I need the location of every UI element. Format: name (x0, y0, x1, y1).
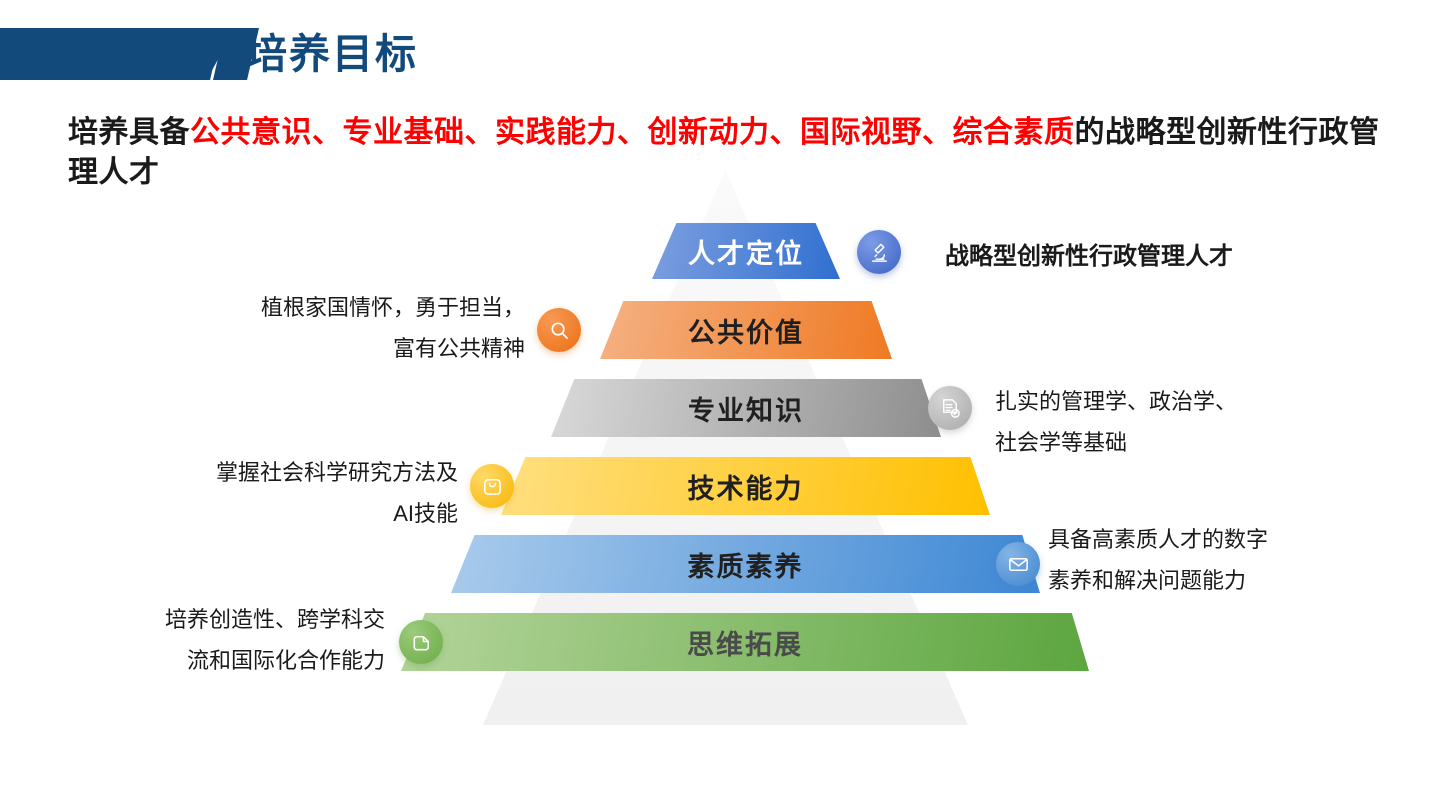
caption-public-value: 植根家国情怀，勇于担当， 富有公共精神 (150, 288, 525, 369)
pyramid-layer-label: 公共价值 (688, 311, 804, 350)
caption-line: 培养创造性、跨学科交 (60, 600, 385, 641)
caption-professional-knowledge: 扎实的管理学、政治学、 社会学等基础 (995, 382, 1395, 463)
caption-line: 植根家国情怀，勇于担当， (150, 288, 525, 329)
envelope-icon[interactable] (996, 542, 1040, 586)
pyramid-layer-label: 技术能力 (688, 467, 804, 506)
pyramid-layer-label: 专业知识 (688, 389, 804, 428)
document-check-icon[interactable] (928, 386, 972, 430)
caption-line: 流和国际化合作能力 (60, 641, 385, 682)
pyramid-layer-label: 人才定位 (688, 232, 804, 271)
pyramid-layer-professional-knowledge[interactable]: 专业知识 (551, 379, 941, 437)
slide-root: 培养目标 培养具备公共意识、专业基础、实践能力、创新动力、国际视野、综合素质的战… (0, 0, 1451, 806)
pyramid-layer-quality-literacy[interactable]: 素质素养 (451, 535, 1040, 593)
caption-line: 扎实的管理学、政治学、 (995, 382, 1395, 423)
caption-talent-position: 战略型创新性行政管理人才 (945, 235, 1365, 279)
search-icon[interactable] (537, 308, 581, 352)
pyramid-diagram: 人才定位 公共价值 专业知识 技术能力 素质素养 思维拓展 (0, 160, 1451, 760)
pyramid-layer-technical-ability[interactable]: 技术能力 (501, 457, 990, 515)
subtitle-prefix: 培养具备 (68, 116, 190, 149)
caption-line: 富有公共精神 (150, 329, 525, 370)
page-title: 培养目标 (246, 24, 418, 84)
caption-line: 社会学等基础 (995, 423, 1395, 464)
pyramid-layer-label: 思维拓展 (687, 623, 803, 662)
caption-thinking-expansion: 培养创造性、跨学科交 流和国际化合作能力 (60, 600, 385, 681)
subtitle-highlight: 公共意识、专业基础、实践能力、创新动力、国际视野、综合素质 (190, 116, 1075, 149)
caption-quality-literacy: 具备高素质人才的数字 素养和解决问题能力 (1048, 520, 1388, 601)
caption-line: 掌握社会科学研究方法及 (88, 453, 458, 494)
pyramid-layer-thinking-expansion[interactable]: 思维拓展 (401, 613, 1089, 671)
file-copy-icon[interactable] (399, 620, 443, 664)
caption-line: AI技能 (88, 494, 458, 535)
microscope-icon[interactable] (857, 230, 901, 274)
caption-line: 素养和解决问题能力 (1048, 561, 1388, 602)
bag-icon[interactable] (470, 464, 514, 508)
pyramid-layer-talent-position[interactable]: 人才定位 (652, 223, 840, 279)
caption-line: 具备高素质人才的数字 (1048, 520, 1388, 561)
header: 培养目标 (0, 28, 640, 80)
pyramid-layer-public-value[interactable]: 公共价值 (600, 301, 892, 359)
caption-technical-ability: 掌握社会科学研究方法及 AI技能 (88, 453, 458, 534)
pyramid-layer-label: 素质素养 (688, 545, 804, 584)
